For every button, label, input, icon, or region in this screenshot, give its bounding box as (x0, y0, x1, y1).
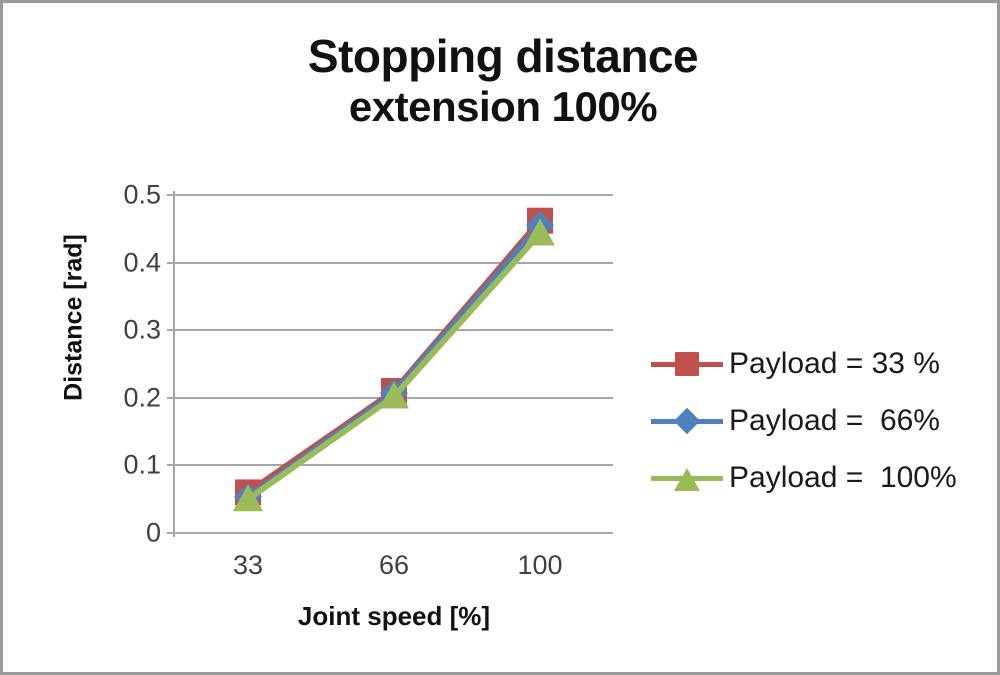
y-axis-tick (167, 329, 176, 331)
legend-label: Payload = 33 % (729, 347, 940, 381)
y-axis-tick (167, 397, 176, 399)
legend-marker (674, 468, 700, 491)
gridline (175, 464, 613, 466)
y-axis-tick (167, 464, 176, 466)
y-axis-tick-label: 0.4 (91, 247, 161, 278)
legend-key-diamond-icon (651, 408, 723, 434)
y-axis-tick-label: 0.3 (91, 315, 161, 346)
legend-marker (674, 407, 700, 433)
legend-label: Payload = 100% (729, 461, 957, 495)
y-axis-tick (167, 262, 176, 264)
x-axis-tick-label: 100 (480, 550, 600, 581)
gridline (175, 397, 613, 399)
y-axis-tick-label: 0.5 (91, 180, 161, 211)
y-axis-tick (167, 194, 176, 196)
legend-key-triangle-icon (651, 465, 723, 491)
x-axis-tick-label: 66 (334, 550, 454, 581)
x-axis-tick-label: 33 (188, 550, 308, 581)
y-axis-tick (167, 532, 176, 534)
legend-marker (675, 352, 699, 376)
legend-item[interactable]: Payload = 66% (651, 392, 991, 449)
legend-key-square-icon (651, 351, 723, 377)
x-axis-title: Joint speed [%] (175, 601, 613, 632)
gridline (175, 329, 613, 331)
plot-area (175, 195, 613, 533)
legend-item[interactable]: Payload = 100% (651, 449, 991, 506)
y-axis-tick-labels: 00.10.20.30.40.5 (91, 3, 161, 675)
chart-title-line-1: Stopping distance (308, 30, 698, 82)
chart-legend: Payload = 33 %Payload = 66%Payload = 100… (651, 335, 991, 506)
legend-label: Payload = 66% (729, 404, 940, 438)
y-axis-title: Distance [rad] (60, 203, 89, 433)
gridline (175, 194, 613, 196)
chart-container: Stopping distance extension 100% Distanc… (0, 0, 1000, 675)
legend-item[interactable]: Payload = 33 % (651, 335, 991, 392)
gridline (175, 262, 613, 264)
y-axis-tick-label: 0 (91, 518, 161, 549)
gridline (175, 532, 613, 534)
y-axis-tick-label: 0.2 (91, 382, 161, 413)
y-axis-tick-label: 0.1 (91, 450, 161, 481)
